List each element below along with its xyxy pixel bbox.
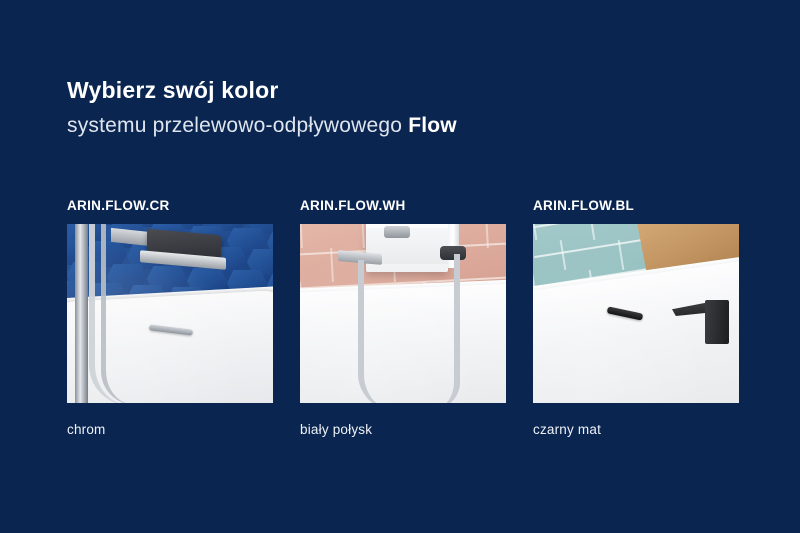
product-caption: chrom xyxy=(67,422,273,437)
product-code: ARIN.FLOW.WH xyxy=(300,198,506,213)
promo-page: Wybierz swój kolor systemu przelewowo-od… xyxy=(0,0,800,533)
chrome-riser-bar xyxy=(75,224,88,403)
product-photo-white-gloss[interactable] xyxy=(300,224,506,403)
chrome-hose-left xyxy=(358,260,394,403)
product-code: ARIN.FLOW.CR xyxy=(67,198,273,213)
page-heading: Wybierz swój kolor systemu przelewowo-od… xyxy=(67,76,747,139)
chrome-hose-right xyxy=(432,254,460,403)
product-card-bialy-polysk[interactable]: ARIN.FLOW.WH biały połysk xyxy=(300,198,506,437)
product-caption: czarny mat xyxy=(533,422,739,437)
chrome-valve xyxy=(384,226,410,238)
heading-product-name: Flow xyxy=(408,114,457,137)
heading-subtitle-text: systemu przelewowo-odpływowego xyxy=(67,114,402,137)
product-photo-matte-black[interactable] xyxy=(533,224,739,403)
product-card-czarny-mat[interactable]: ARIN.FLOW.BL czarny mat xyxy=(533,198,739,437)
product-variant-list: ARIN.FLOW.CR chrom ARIN.FLOW.WH xyxy=(67,198,741,437)
product-photo-chrom[interactable] xyxy=(67,224,273,403)
heading-line-secondary: systemu przelewowo-odpływowego Flow xyxy=(67,113,747,139)
product-card-chrom[interactable]: ARIN.FLOW.CR chrom xyxy=(67,198,273,437)
chrome-hose-inner xyxy=(101,224,135,403)
heading-line-primary: Wybierz swój kolor xyxy=(67,76,747,104)
product-caption: biały połysk xyxy=(300,422,506,437)
product-code: ARIN.FLOW.BL xyxy=(533,198,739,213)
matte-black-spout-column xyxy=(705,300,729,344)
